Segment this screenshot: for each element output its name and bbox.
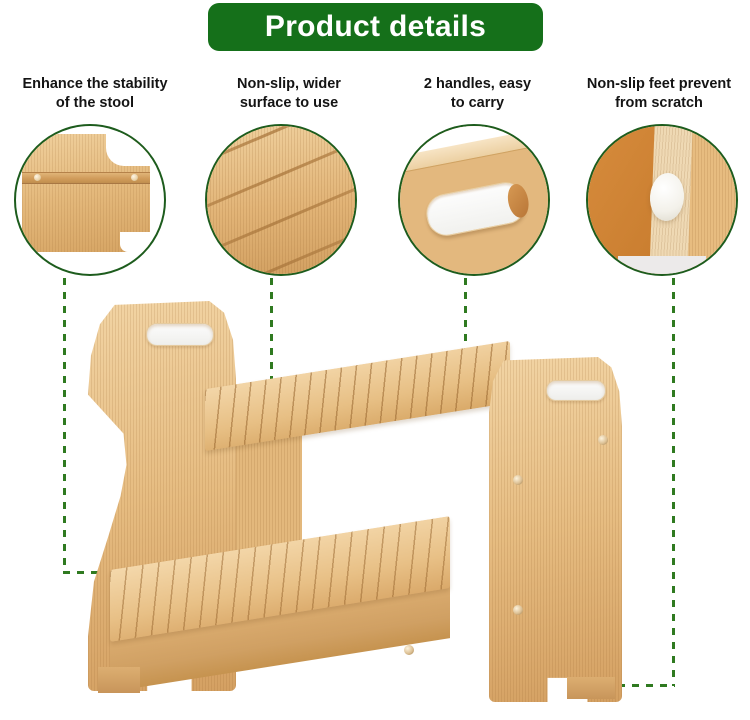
callout-circle-handles	[398, 124, 550, 276]
callout-circle-feet	[586, 124, 738, 276]
screw-icon	[513, 605, 523, 615]
panel-wood	[686, 126, 736, 274]
callout-image-handle	[400, 126, 548, 274]
screw-icon	[598, 435, 608, 445]
page-title: Product details	[265, 12, 486, 42]
product-details-infographic: Product details Enhance the stability of…	[0, 0, 750, 720]
feature-caption-handles: 2 handles, easy to carry	[385, 75, 570, 112]
callout-image-foot-pad	[588, 126, 736, 274]
screw-icon	[404, 645, 414, 655]
right-foot	[567, 677, 615, 699]
panel-bottom-notch	[120, 232, 150, 252]
callout-image-slats	[207, 126, 355, 274]
screw-icon	[34, 174, 41, 181]
callout-image-side-panel	[16, 126, 164, 274]
product-details-banner: Product details	[208, 3, 543, 51]
right-side-panel	[489, 357, 622, 702]
feature-caption-feet: Non-slip feet prevent from scratch	[568, 75, 750, 112]
callout-circle-stability	[14, 124, 166, 276]
left-foot	[98, 667, 140, 693]
left-handle-slot	[146, 323, 214, 346]
product-image-step-stool	[0, 285, 750, 720]
right-handle-slot	[546, 380, 606, 401]
slat-grooves	[207, 126, 355, 274]
slot-inner-shadow	[505, 182, 531, 219]
feature-caption-stability: Enhance the stability of the stool	[0, 75, 190, 112]
panel-top-notch	[106, 132, 150, 166]
screw-icon	[513, 475, 523, 485]
feature-caption-surface: Non-slip, wider surface to use	[194, 75, 384, 112]
floor-surface	[618, 256, 707, 274]
callout-circle-surface	[205, 124, 357, 276]
screw-icon	[131, 174, 138, 181]
handle-slot	[423, 179, 529, 239]
